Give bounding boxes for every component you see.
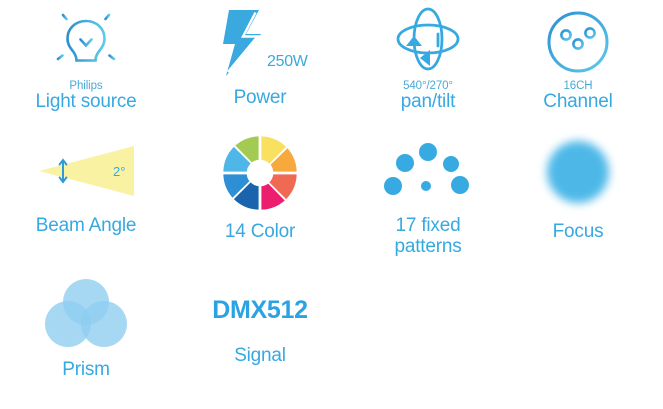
spec-main-label: Beam Angle bbox=[36, 216, 136, 237]
spec-item-pan-tilt: 540°/270° pan/tilt bbox=[345, 6, 511, 113]
spec-item-prism: Prism bbox=[3, 276, 169, 381]
dmx-text-icon: DMX512 bbox=[195, 288, 325, 332]
spec-main-label: pan/tilt bbox=[401, 92, 455, 113]
fader-circle-icon bbox=[513, 6, 643, 80]
spec-main-label: Light source bbox=[35, 92, 136, 113]
spec-main-label: 17 fixed patterns bbox=[394, 216, 461, 257]
three-circles-prism-icon bbox=[21, 276, 151, 352]
power-value-label: 250W bbox=[267, 53, 308, 71]
beam-angle-value-label: 2° bbox=[113, 164, 125, 179]
spec-item-signal: DMX512 Signal bbox=[177, 288, 343, 367]
spec-item-color: 14 Color bbox=[177, 134, 343, 243]
spec-main-label: Signal bbox=[234, 346, 286, 367]
spec-item-light-source: Philips Light source bbox=[3, 6, 169, 113]
spec-main-label: Focus bbox=[553, 222, 604, 243]
spec-main-label: Prism bbox=[62, 360, 110, 381]
spec-item-power: 250W Power bbox=[177, 6, 343, 109]
spec-item-channel: 16CH Channel bbox=[495, 6, 661, 113]
lightning-bolt-icon: 250W bbox=[195, 6, 325, 80]
spec-item-beam-angle: 2° Beam Angle bbox=[3, 140, 169, 237]
specification-grid: Philips Light source 250W Power bbox=[0, 0, 663, 409]
spec-main-label: 14 Color bbox=[225, 222, 295, 243]
blurred-spot-icon bbox=[513, 134, 643, 212]
spec-main-label: Power bbox=[234, 88, 287, 109]
spec-item-focus: Focus bbox=[495, 134, 661, 243]
color-wheel-icon bbox=[195, 134, 325, 212]
pan-tilt-orbit-icon bbox=[363, 6, 493, 80]
beam-cone-icon: 2° bbox=[21, 140, 151, 202]
spec-main-label: Channel bbox=[543, 92, 612, 113]
gobo-dots-icon bbox=[363, 136, 493, 208]
signal-protocol-label: DMX512 bbox=[212, 298, 307, 323]
spec-item-patterns: 17 fixed patterns bbox=[345, 136, 511, 257]
lightbulb-icon bbox=[21, 6, 151, 80]
